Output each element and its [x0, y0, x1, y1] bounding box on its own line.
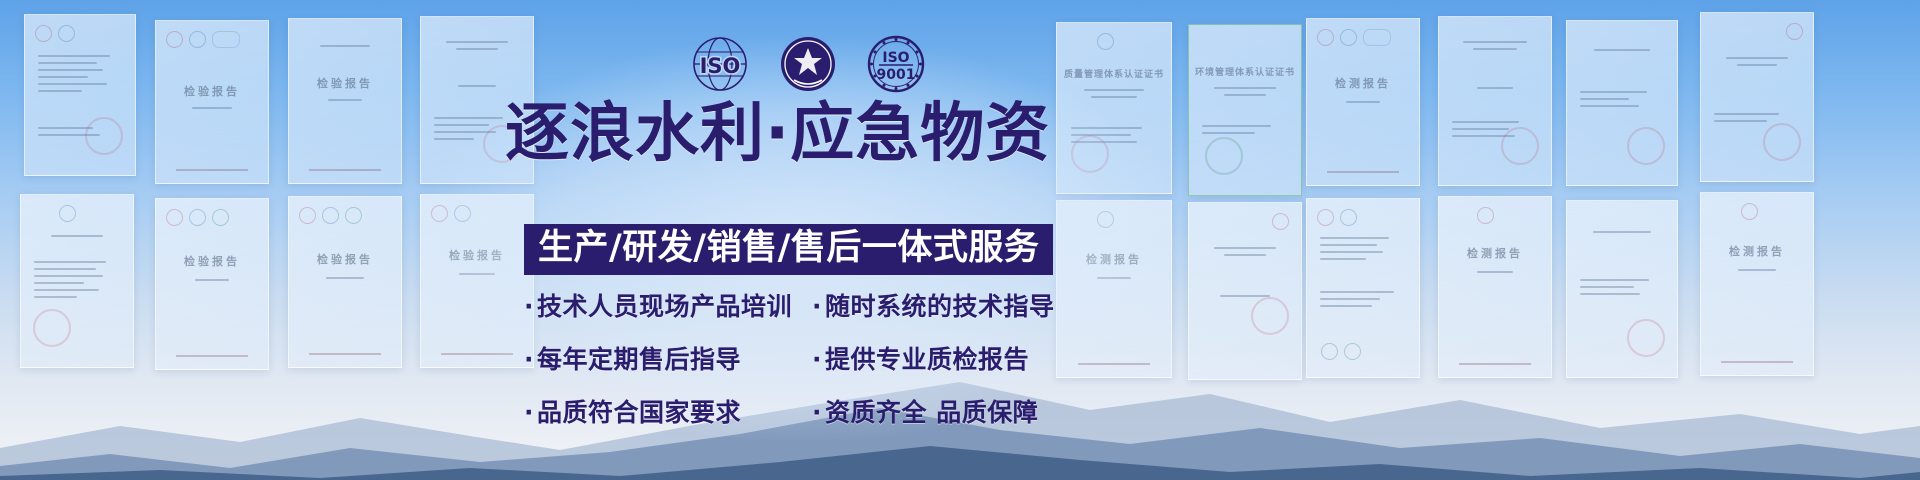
bullet-marker: ·: [812, 292, 822, 321]
bullet-marker: ·: [812, 345, 822, 374]
list-item-label: 提供专业质检报告: [825, 345, 1029, 374]
page-title: 逐浪水利·应急物资: [505, 102, 1050, 166]
certificate-title: 检验报告: [289, 251, 401, 267]
bullet-marker: ·: [524, 345, 534, 374]
certificate-title: 检验报告: [156, 253, 268, 269]
certificate-text-lines: [34, 261, 119, 303]
list-item: ·随时系统的技术指导: [812, 292, 1052, 322]
certificate-title: 检验报告: [289, 75, 401, 91]
certificate-seal: [166, 29, 258, 49]
certificate-thumbnail: [24, 14, 136, 176]
certificate-title: 检测报告: [1057, 251, 1171, 267]
list-item-label: 技术人员现场产品培训: [537, 292, 792, 321]
certificate-text-lines: [1071, 277, 1158, 284]
certificate-thumbnail: [1700, 12, 1814, 182]
certificate-stamp: [85, 117, 123, 155]
certificate-seal: [166, 207, 258, 227]
certificate-text-lines: [1714, 269, 1799, 276]
list-item-label: 品质符合国家要求: [537, 398, 741, 427]
certificate-text-lines: [434, 273, 519, 280]
subtitle-band: 生产/研发/销售/售后一体式服务: [524, 224, 1053, 275]
certificate-text-lines: [302, 99, 387, 106]
bullet-marker: ·: [812, 398, 822, 427]
certificate-seal: [1317, 27, 1409, 47]
feature-list: ·技术人员现场产品培训 ·随时系统的技术指导 ·每年定期售后指导 ·提供专业质检…: [524, 292, 1052, 428]
certificate-title: 质量管理体系认证证书: [1057, 67, 1171, 80]
certificate-text-lines: [1452, 41, 1537, 55]
certificate-text-lines: [1452, 271, 1537, 278]
certificate-text-lines: [169, 107, 254, 114]
list-item: ·技术人员现场产品培训: [524, 292, 812, 322]
certificate-title: 检测报告: [1701, 243, 1813, 259]
certificate-seal: [299, 205, 391, 225]
certificate-text-lines: [38, 55, 122, 97]
certificate-footer-line: [1327, 171, 1399, 173]
svg-text:ISO: ISO: [882, 50, 909, 66]
certificate-title: 检测报告: [1307, 75, 1419, 91]
certificate-text-lines: [1071, 89, 1158, 103]
certificate-seal: [1097, 209, 1161, 229]
certificate-title: 检测报告: [1439, 245, 1551, 261]
certificate-text-lines: [169, 279, 254, 286]
iso-badge: ISO: [690, 34, 750, 94]
certificate-text-lines: [1580, 91, 1664, 112]
certificate-text-lines: [1202, 125, 1287, 139]
certificate-thumbnail: 检验报告: [155, 20, 269, 184]
certificate-text-lines: [1580, 279, 1664, 300]
certificate-seal: [431, 203, 523, 223]
bullet-marker: ·: [524, 292, 534, 321]
certificate-text-lines: [302, 45, 387, 52]
certificate-stamp: [1071, 135, 1109, 173]
certificate-text-lines: [1202, 247, 1287, 261]
certificate-title: 检验报告: [156, 83, 268, 99]
bullet-marker: ·: [524, 398, 534, 427]
list-item: ·每年定期售后指导: [524, 345, 812, 375]
svg-text:ISO: ISO: [700, 54, 741, 78]
svg-text:9001: 9001: [877, 67, 916, 83]
list-item-label: 每年定期售后指导: [537, 345, 741, 374]
certificate-title: 环境管理体系认证证书: [1189, 65, 1301, 78]
certificate-seal: [1317, 207, 1409, 227]
certificate-stamp: [1763, 123, 1801, 161]
certificate-text-lines: [1452, 87, 1537, 94]
certificate-seal: [1477, 205, 1541, 225]
certificate-footer-line: [176, 169, 248, 171]
certificate-seal: [35, 23, 125, 43]
certificate-stamp: [1501, 127, 1539, 165]
certificate-seal: [59, 203, 123, 223]
list-item: ·品质符合国家要求: [524, 398, 812, 428]
certificate-text-lines: [434, 41, 519, 55]
certificate-thumbnail: [1438, 16, 1552, 186]
list-item-label: 资质齐全 品质保障: [825, 398, 1038, 427]
certificate-text-lines: [1202, 87, 1287, 101]
list-item-label: 随时系统的技术指导: [825, 292, 1055, 321]
quality-inspection-badge: [778, 34, 838, 94]
certificate-text-lines: [1320, 237, 1405, 265]
certificate-seal: [1786, 21, 1803, 41]
certificate-text-lines: [434, 85, 519, 92]
certificate-text-lines: [1580, 49, 1664, 56]
certificate-text-lines: [1320, 291, 1405, 312]
certificate-seal: [1272, 211, 1289, 231]
list-item: ·提供专业质检报告: [812, 345, 1052, 375]
certificate-text-lines: [1714, 57, 1799, 71]
certificate-footer-line: [309, 169, 381, 171]
certificate-thumbnail: 检验报告: [288, 18, 402, 184]
certificate-thumbnail: 检测报告: [1306, 18, 1420, 186]
certificate-seal: [1097, 31, 1161, 51]
certificate-thumbnail: 环境管理体系认证证书: [1188, 24, 1302, 196]
iso-9001-badge: ISO 9001: [866, 34, 926, 94]
certificate-thumbnail: 质量管理体系认证证书: [1056, 22, 1172, 194]
certificate-seal: [1741, 201, 1803, 221]
promo-banner: 检验报告 检验报告: [0, 0, 1920, 480]
certificate-text-lines: [302, 277, 387, 284]
certificate-text-lines: [34, 235, 119, 242]
list-item: ·资质齐全 品质保障: [812, 398, 1052, 428]
certificate-text-lines: [1580, 231, 1664, 238]
certification-badges: ISO: [690, 34, 926, 94]
certificate-text-lines: [1320, 101, 1405, 108]
certificate-title: 检验报告: [421, 247, 533, 263]
certificate-thumbnail: [1566, 20, 1678, 186]
certificate-stamp: [1205, 137, 1243, 175]
certificate-stamp: [1627, 127, 1665, 165]
